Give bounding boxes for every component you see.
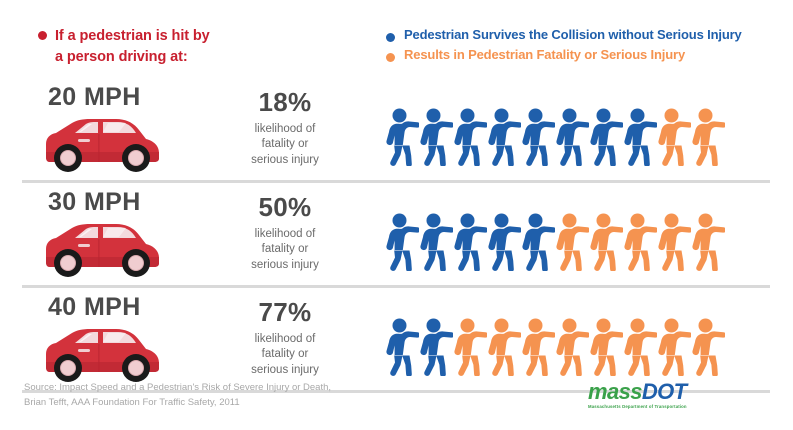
car-illustration-30mph <box>34 217 166 281</box>
stat-description-30mph: likelihood of fatality or serious injury <box>215 227 355 275</box>
source-citation: Source: Impact Speed and a Pedestrian's … <box>24 381 331 410</box>
source-line-1: Source: Impact Speed and a Pedestrian's … <box>24 381 331 396</box>
legend-label-survives: Pedestrian Survives the Collision withou… <box>404 28 742 43</box>
car-illustration-20mph <box>34 112 166 176</box>
pedestrian-safety-infographic: If a pedestrian is hit by a person drivi… <box>0 0 793 430</box>
pedestrian-icon-fatality <box>692 213 725 271</box>
blue-dot-icon <box>386 33 395 42</box>
stat-block-20mph: 18% likelihood of fatality or serious in… <box>215 88 355 169</box>
stat-percent-40mph: 77% <box>215 298 355 327</box>
pedestrian-icon-survives <box>386 108 419 166</box>
pedestrian-icon-survives <box>624 108 657 166</box>
speed-row-30mph: 30 MPH 50% likelihood <box>0 183 793 288</box>
pedestrian-icon-fatality <box>556 318 589 376</box>
stat-percent-30mph: 50% <box>215 193 355 222</box>
pedestrian-icon-survives <box>420 108 453 166</box>
legend-item-survives: Pedestrian Survives the Collision withou… <box>386 28 742 43</box>
stat-desc-line-2: fatality or <box>215 137 355 153</box>
pedestrian-icon-fatality <box>454 318 487 376</box>
speed-label-40mph: 40 MPH <box>48 293 141 322</box>
speed-label-30mph: 30 MPH <box>48 188 141 217</box>
pedestrian-icon-survives <box>386 213 419 271</box>
pedestrian-icon-survives <box>556 108 589 166</box>
intro-statement: If a pedestrian is hit by a person drivi… <box>38 26 338 67</box>
pedestrian-icon-survives <box>522 108 555 166</box>
logo-subtitle: Massachusetts Department of Transportati… <box>588 404 706 409</box>
pedestrian-icon-fatality <box>658 318 691 376</box>
stat-description-40mph: likelihood of fatality or serious injury <box>215 332 355 380</box>
pedestrian-icon-fatality <box>692 318 725 376</box>
pedestrian-icon-fatality <box>590 318 623 376</box>
pictogram-row-40mph <box>386 314 726 376</box>
pedestrian-icon-survives <box>488 213 521 271</box>
pictogram-row-30mph <box>386 209 726 271</box>
pedestrian-icon-fatality <box>488 318 521 376</box>
pedestrian-icon-fatality <box>624 213 657 271</box>
legend: Pedestrian Survives the Collision withou… <box>386 28 742 68</box>
stat-desc-line-2: fatality or <box>215 347 355 363</box>
stat-block-30mph: 50% likelihood of fatality or serious in… <box>215 193 355 274</box>
pedestrian-icon-fatality <box>658 108 691 166</box>
pedestrian-icon-fatality <box>522 318 555 376</box>
pedestrian-icon-survives <box>454 213 487 271</box>
pictogram-row-20mph <box>386 104 726 166</box>
pedestrian-icon-fatality <box>556 213 589 271</box>
orange-dot-icon <box>386 53 395 62</box>
pedestrian-icon-survives <box>488 108 521 166</box>
pedestrian-icon-fatality <box>624 318 657 376</box>
speed-row-20mph: 20 MPH 18% likelihood <box>0 78 793 183</box>
stat-desc-line-2: fatality or <box>215 242 355 258</box>
pedestrian-icon-fatality <box>692 108 725 166</box>
stat-desc-line-3: serious injury <box>215 258 355 274</box>
stat-desc-line-1: likelihood of <box>215 227 355 243</box>
stat-desc-line-1: likelihood of <box>215 332 355 348</box>
massdot-wordmark: massDOT <box>588 381 706 403</box>
pedestrian-icon-survives <box>454 108 487 166</box>
legend-item-fatality: Results in Pedestrian Fatality or Seriou… <box>386 48 742 63</box>
speed-row-40mph: 40 MPH 77% likelihood <box>0 288 793 393</box>
pedestrian-icon-survives <box>420 213 453 271</box>
stat-desc-line-3: serious injury <box>215 363 355 379</box>
legend-label-fatality: Results in Pedestrian Fatality or Seriou… <box>404 48 685 63</box>
red-bullet-icon <box>38 31 47 40</box>
stat-block-40mph: 77% likelihood of fatality or serious in… <box>215 298 355 379</box>
stat-desc-line-1: likelihood of <box>215 122 355 138</box>
intro-line-2: a person driving at: <box>55 47 210 68</box>
stat-desc-line-3: serious injury <box>215 153 355 169</box>
pedestrian-icon-survives <box>522 213 555 271</box>
speed-label-20mph: 20 MPH <box>48 83 141 112</box>
massdot-logo: massDOT Massachusetts Department of Tran… <box>588 381 706 411</box>
stat-percent-20mph: 18% <box>215 88 355 117</box>
intro-line-1: If a pedestrian is hit by <box>55 26 210 47</box>
logo-mass-text: mass <box>588 379 642 404</box>
stat-description-20mph: likelihood of fatality or serious injury <box>215 122 355 170</box>
car-illustration-40mph <box>34 322 166 386</box>
intro-statement-text: If a pedestrian is hit by a person drivi… <box>55 26 210 67</box>
pedestrian-icon-fatality <box>658 213 691 271</box>
pedestrian-icon-survives <box>420 318 453 376</box>
pedestrian-icon-fatality <box>590 213 623 271</box>
pedestrian-icon-survives <box>590 108 623 166</box>
source-line-2: Brian Tefft, AAA Foundation For Traffic … <box>24 396 331 411</box>
pedestrian-icon-survives <box>386 318 419 376</box>
logo-dot-text: DOT <box>642 379 687 404</box>
